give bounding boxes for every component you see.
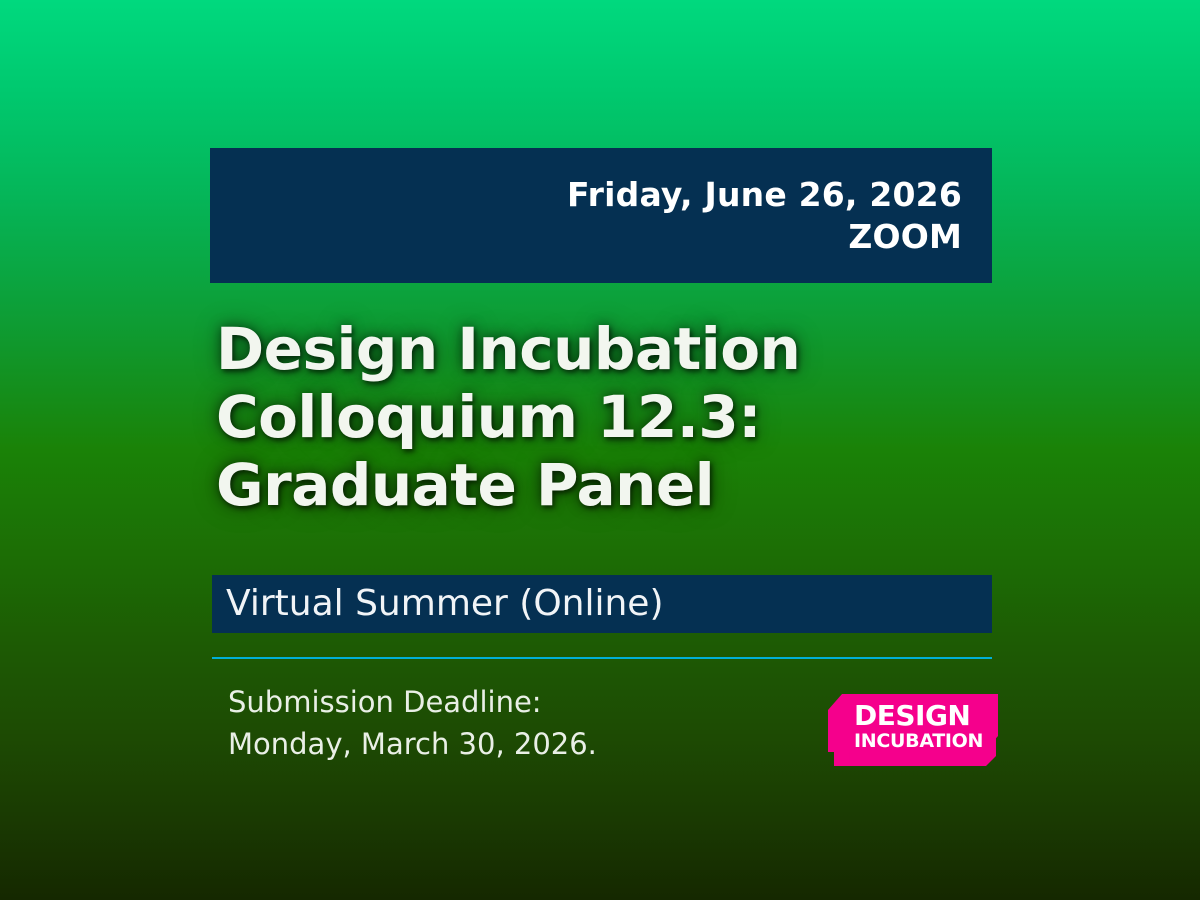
logo-word-incubation: INCUBATION — [854, 730, 983, 752]
event-date: Friday, June 26, 2026 — [210, 174, 962, 216]
deadline-date: Monday, March 30, 2026. — [228, 723, 748, 765]
title-line-3: Graduate Panel — [216, 452, 1006, 520]
deadline-label: Submission Deadline: — [228, 681, 748, 723]
page-title: Design Incubation Colloquium 12.3: Gradu… — [216, 316, 1006, 520]
subtitle-text: Virtual Summer (Online) — [226, 586, 663, 622]
date-banner: Friday, June 26, 2026 ZOOM — [210, 148, 992, 283]
title-line-2: Colloquium 12.3: — [216, 384, 1006, 452]
section-divider — [212, 657, 992, 659]
logo-word-design: DESIGN — [854, 699, 970, 732]
event-poster: Friday, June 26, 2026 ZOOM Design Incuba… — [0, 0, 1200, 900]
submission-deadline: Submission Deadline: Monday, March 30, 2… — [228, 681, 748, 765]
design-incubation-logo: INCUBATION DESIGN INCUBATION — [828, 692, 998, 780]
logo-mark: INCUBATION DESIGN INCUBATION — [828, 692, 998, 780]
subtitle-bar: Virtual Summer (Online) — [212, 575, 992, 633]
title-line-1: Design Incubation — [216, 316, 1006, 384]
event-platform: ZOOM — [210, 216, 962, 258]
